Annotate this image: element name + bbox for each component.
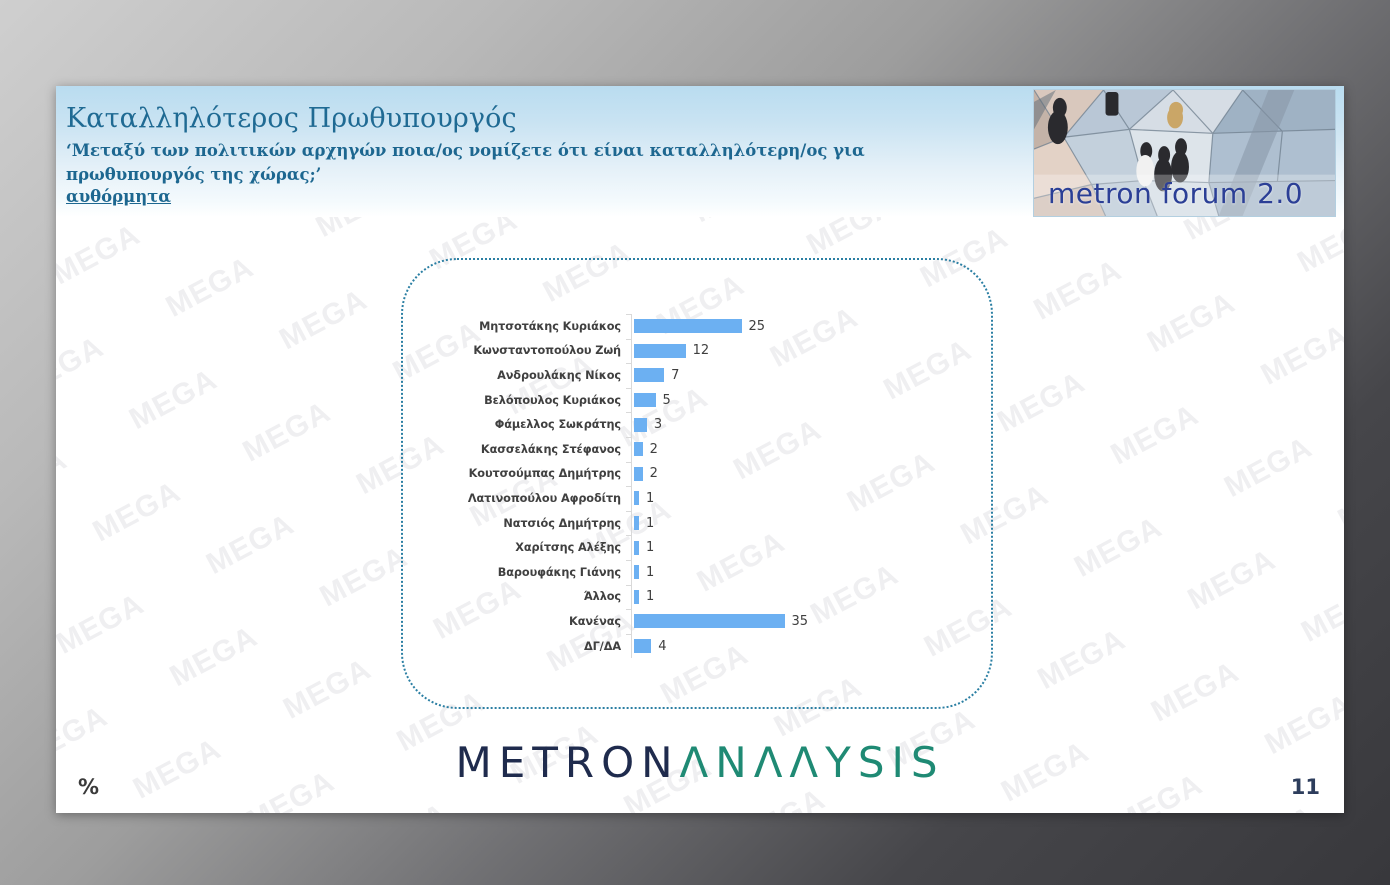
bar-chart-row: Κασσελάκης Στέφανος2 — [416, 437, 976, 462]
bar-chart-row: Βελόπουλος Κυριάκος5 — [416, 388, 976, 413]
chart-axis-tick — [626, 634, 631, 635]
bar-chart-row: Χαρίτσης Αλέξης1 — [416, 535, 976, 560]
bar-chart-row: Ανδρουλάκης Νίκος7 — [416, 363, 976, 388]
bar-chart-row: Κουτσούμπας Δημήτρης2 — [416, 462, 976, 487]
bar — [634, 491, 639, 505]
watermark-text: MEGA — [1337, 797, 1344, 813]
bar — [634, 319, 742, 333]
bar — [634, 393, 656, 407]
presentation-slide: MEGAMEGAMEGAMEGAMEGAMEGAMEGAMEGAMEGAMEGA… — [56, 86, 1344, 813]
methodology-note: αυθόρμητα — [66, 186, 171, 207]
bar-value-label: 25 — [749, 319, 766, 334]
watermark-text: MEGA — [1032, 587, 1198, 697]
chart-axis-tick — [626, 560, 631, 561]
chart-axis-line — [631, 634, 632, 659]
bar-category-label: Κασσελάκης Στέφανος — [416, 443, 631, 456]
watermark-text: MEGA — [161, 215, 327, 325]
bar-chart-row: Νατσιός Δημήτρης1 — [416, 511, 976, 536]
bar-value-label: 1 — [646, 565, 654, 580]
bar — [634, 442, 643, 456]
slide-header: Καταλληλότερος Πρωθυπουργός ‘Μεταξύ των … — [56, 86, 1344, 217]
chart-axis-line — [631, 609, 632, 634]
chart-axis-tick — [626, 585, 631, 586]
chart-axis-tick — [626, 511, 631, 512]
page-title: Καταλληλότερος Πρωθυπουργός — [66, 104, 1026, 134]
chart-axis-tick — [626, 462, 631, 463]
watermark-text: MEGA — [56, 295, 177, 405]
watermark-text: MEGA — [1069, 475, 1235, 585]
bar-chart-row: ΔΓ/ΔΑ4 — [416, 634, 976, 659]
chart-axis-line — [631, 486, 632, 511]
bar-chart-row: Βαρουφάκης Γιάνης1 — [416, 560, 976, 585]
chart-axis-tick — [626, 412, 631, 413]
bar-track: 1 — [631, 486, 976, 511]
header-text-block: Καταλληλότερος Πρωθυπουργός ‘Μεταξύ των … — [66, 104, 1026, 208]
logo-text-analysis: ΛΝΛΛΥSIS — [680, 738, 945, 787]
bar-chart-row: Φάμελλος Σωκράτης3 — [416, 412, 976, 437]
bar-value-label: 5 — [663, 393, 671, 408]
bar-chart: Μητσοτάκης Κυριάκος25Κωνσταντοπούλου Ζωή… — [416, 314, 976, 664]
metron-forum-logo: metron forum 2.0 — [1033, 89, 1336, 217]
bar-category-label: Κωνσταντοπούλου Ζωή — [416, 344, 631, 357]
bar-track: 2 — [631, 437, 976, 462]
watermark-text: MEGA — [91, 809, 257, 813]
bar-chart-row: Κωνσταντοπούλου Ζωή12 — [416, 339, 976, 364]
bar-track: 1 — [631, 535, 976, 560]
watermark-text: MEGA — [56, 407, 140, 517]
bar-category-label: Λατινοπούλου Αφροδίτη — [416, 492, 631, 505]
watermark-text: MEGA — [1029, 218, 1195, 328]
bar — [634, 639, 651, 653]
bar-value-label: 1 — [646, 491, 654, 506]
bar — [634, 541, 639, 555]
watermark-text: MEGA — [164, 584, 330, 694]
watermark-text: MEGA — [1256, 283, 1344, 393]
bar — [634, 368, 664, 382]
watermark-text: MEGA — [1219, 395, 1344, 505]
chart-axis-line — [631, 535, 632, 560]
bar-track: 1 — [631, 511, 976, 536]
chart-axis-line — [631, 585, 632, 610]
bar — [634, 418, 647, 432]
watermark-text: MEGA — [1106, 363, 1272, 473]
watermark-text: MEGA — [1333, 427, 1344, 537]
bar — [634, 344, 686, 358]
watermark-text: MEGA — [1183, 507, 1344, 617]
bar-track: 1 — [631, 585, 976, 610]
bar — [634, 590, 639, 604]
watermark-text: MEGA — [56, 552, 217, 662]
forum-logo-caption: metron forum 2.0 — [1048, 177, 1303, 210]
watermark-text: MEGA — [56, 632, 67, 742]
watermark-text: MEGA — [1146, 620, 1312, 730]
watermark-text: MEGA — [1142, 250, 1308, 360]
watermark-text: MEGA — [201, 472, 367, 582]
metron-analysis-logo: METRONΛΝΛΛΥSIS — [56, 738, 1344, 787]
bar-chart-row: Λατινοπούλου Αφροδίτη1 — [416, 486, 976, 511]
bar-track: 12 — [631, 339, 976, 364]
watermark-text: MEGA — [87, 439, 253, 549]
bar-value-label: 7 — [671, 368, 679, 383]
bar-value-label: 4 — [658, 639, 666, 654]
chart-axis-tick — [626, 388, 631, 389]
bar-category-label: Κουτσούμπας Δημήτρης — [416, 467, 631, 480]
chart-axis-tick — [626, 437, 631, 438]
bar-track: 5 — [631, 388, 976, 413]
bar — [634, 516, 639, 530]
desktop-backdrop: MEGAMEGAMEGAMEGAMEGAMEGAMEGAMEGAMEGAMEGA… — [0, 0, 1390, 885]
chart-axis-tick — [626, 535, 631, 536]
bar-category-label: Φάμελλος Σωκράτης — [416, 418, 631, 431]
bar-chart-row: Μητσοτάκης Κυριάκος25 — [416, 314, 976, 339]
chart-axis-tick — [626, 363, 631, 364]
bar-category-label: Κανένας — [416, 615, 631, 628]
chart-axis-line — [631, 560, 632, 585]
watermark-text: MEGA — [124, 327, 290, 437]
bar-track: 1 — [631, 560, 976, 585]
bar-value-label: 3 — [654, 417, 662, 432]
bar-track: 3 — [631, 412, 976, 437]
chart-axis-line — [631, 412, 632, 437]
chart-axis-line — [631, 314, 632, 339]
bar — [634, 467, 643, 481]
bar-value-label: 1 — [646, 516, 654, 531]
bar-track: 4 — [631, 634, 976, 659]
chart-axis-line — [631, 437, 632, 462]
chart-axis-line — [631, 339, 632, 364]
bar-category-label: Ανδρουλάκης Νίκος — [416, 369, 631, 382]
bar-category-label: Χαρίτσης Αλέξης — [416, 541, 631, 554]
chart-axis-line — [631, 462, 632, 487]
chart-axis-line — [631, 511, 632, 536]
chart-axis-line — [631, 388, 632, 413]
bar-value-label: 35 — [792, 614, 809, 629]
watermark-text: MEGA — [56, 519, 103, 629]
bar-value-label: 1 — [646, 540, 654, 555]
bar-track: 35 — [631, 609, 976, 634]
bar-category-label: Βαρουφάκης Γιάνης — [416, 566, 631, 579]
bar-value-label: 2 — [650, 442, 658, 457]
bar-value-label: 2 — [650, 466, 658, 481]
bar — [634, 565, 639, 579]
watermark-text: MEGA — [469, 794, 635, 813]
bar-category-label: Νατσιός Δημήτρης — [416, 517, 631, 530]
bar-category-label: Μητσοτάκης Κυριάκος — [416, 320, 631, 333]
logo-text-metron: METRON — [455, 738, 679, 787]
bar-category-label: ΔΓ/ΔΑ — [416, 640, 631, 653]
chart-axis-tick — [626, 486, 631, 487]
watermark-text: MEGA — [959, 812, 1125, 813]
bar-track: 2 — [631, 462, 976, 487]
bar-category-label: Άλλος — [416, 590, 631, 603]
bar-value-label: 12 — [693, 343, 710, 358]
bar-category-label: Βελόπουλος Κυριάκος — [416, 394, 631, 407]
bar-track: 25 — [631, 314, 976, 339]
bar-value-label: 1 — [646, 589, 654, 604]
watermark-text: MEGA — [56, 262, 63, 372]
question-text: ‘Μεταξύ των πολιτικών αρχηγών ποια/ος νο… — [66, 139, 966, 186]
chart-axis-tick — [626, 339, 631, 340]
bar-chart-row: Κανένας35 — [416, 609, 976, 634]
watermark-text: MEGA — [238, 360, 404, 470]
bar — [634, 614, 785, 628]
chart-axis-line — [631, 363, 632, 388]
chart-axis-tick — [626, 314, 631, 315]
watermark-text: MEGA — [992, 330, 1158, 440]
chart-axis-tick — [626, 609, 631, 610]
bar-chart-row: Άλλος1 — [416, 585, 976, 610]
watermark-text: MEGA — [1296, 540, 1344, 650]
bar-track: 7 — [631, 363, 976, 388]
